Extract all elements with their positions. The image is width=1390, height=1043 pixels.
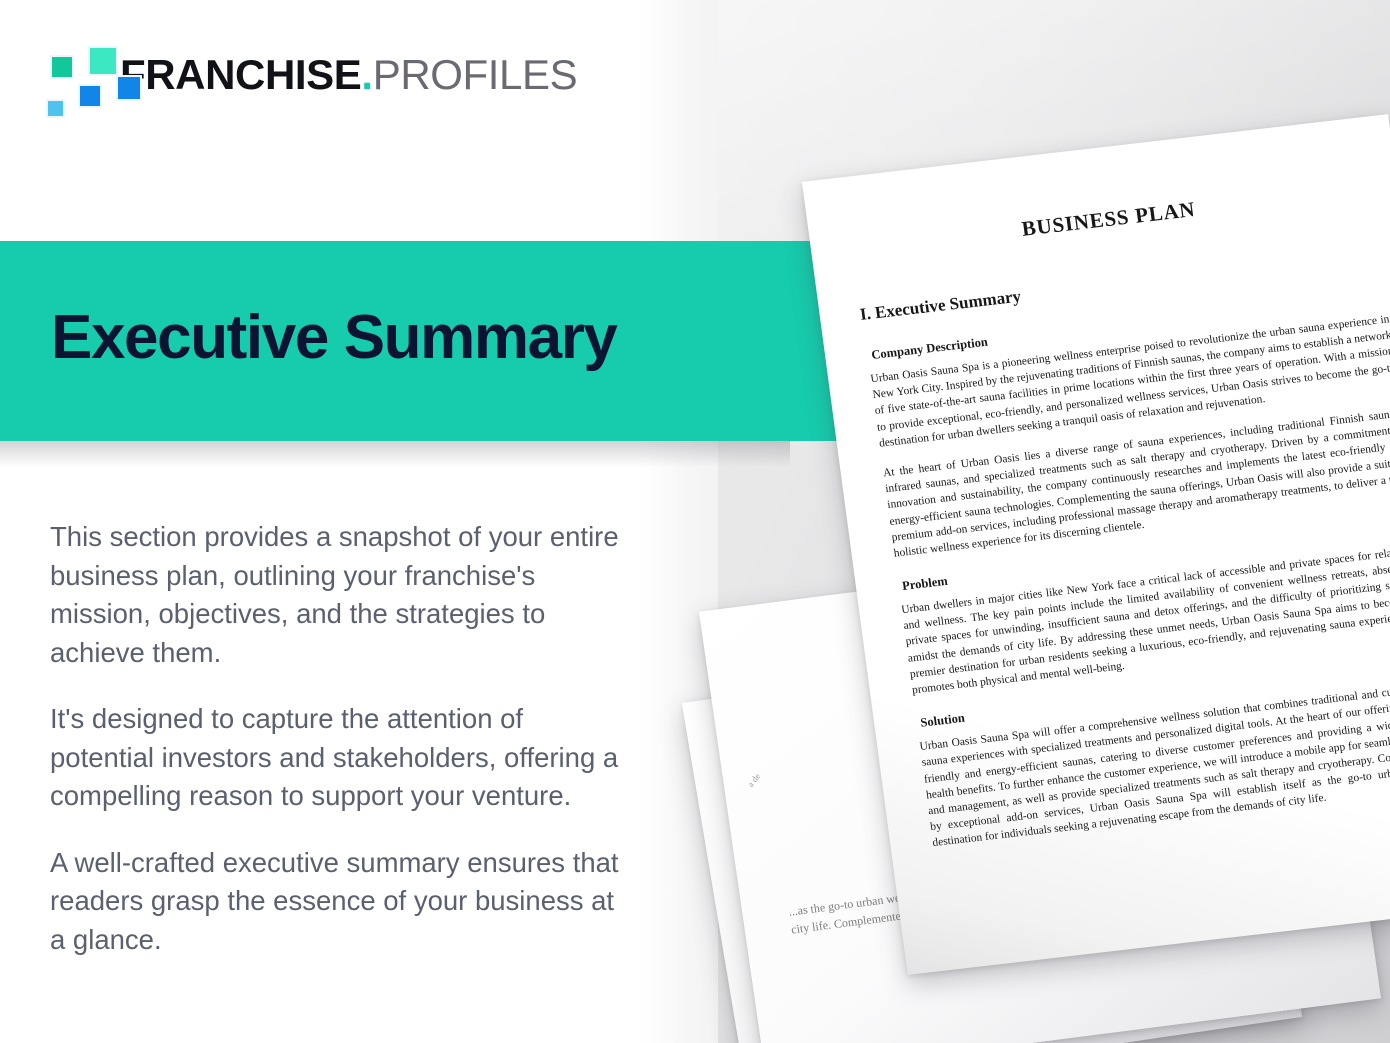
brand-wordmark: FRANCHISE.PROFILES [120,54,577,96]
logo-mark-squares-icon [46,46,108,104]
body-paragraph-1: This section provides a snapshot of your… [50,518,630,672]
document-stack: ...as the go-to urban wellness destinati… [700,120,1390,1043]
body-paragraph-3: A well-crafted executive summary ensures… [50,844,630,960]
brand-name-bold: FRANCHISE [120,51,361,98]
document-paragraph: Urban Oasis Sauna Spa will offer a compr… [919,679,1390,851]
document-title: BUSINESS PLAN [844,177,1374,263]
body-paragraph-2: It's designed to capture the attention o… [50,700,630,816]
body-copy: This section provides a snapshot of your… [50,518,630,959]
document-page-front[interactable]: BUSINESS PLAN I. Executive Summary Compa… [802,114,1390,975]
logo-square-blue-mid-icon [78,84,102,108]
title-banner-drop-shadow [0,441,790,467]
logo-square-teal-small-icon [50,55,74,79]
brand-name-dot: . [361,51,372,98]
brand-logo[interactable]: FRANCHISE.PROFILES [46,44,577,106]
logo-square-lightblue-small-icon [46,99,65,118]
brand-name-thin: PROFILES [373,51,578,98]
logo-square-mint-large-icon [88,46,118,76]
document-subsection-company-description: Company Description Urban Oasis Sauna Sp… [859,289,1390,563]
page-title: Executive Summary [51,305,751,370]
logo-square-blue-right-icon [116,75,142,101]
document-page-front-content: BUSINESS PLAN I. Executive Summary Compa… [802,114,1390,975]
slide-root: FRANCHISE.PROFILES Executive Summary Thi… [0,0,1390,1043]
